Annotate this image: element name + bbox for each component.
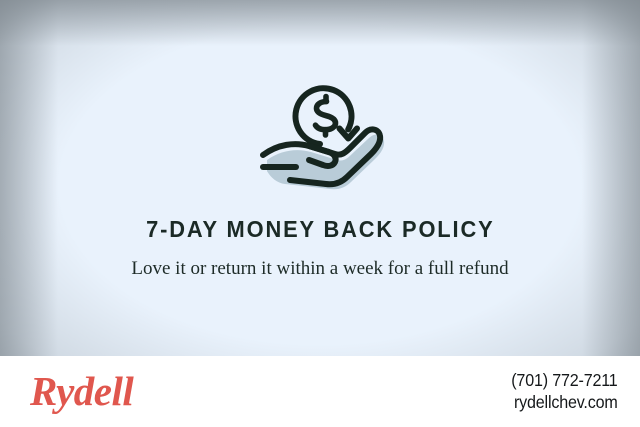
- phone-number[interactable]: (701) 772-7211: [512, 370, 618, 391]
- promo-subheadline: Love it or return it within a week for a…: [120, 256, 520, 281]
- footer-bar: Rydell (701) 772-7211 rydellchev.com: [0, 356, 640, 427]
- rydell-logo[interactable]: Rydell: [30, 371, 133, 412]
- hero-panel: 7-DAY MONEY BACK POLICY Love it or retur…: [0, 0, 640, 356]
- website-url[interactable]: rydellchev.com: [512, 392, 618, 413]
- contact-block: (701) 772-7211 rydellchev.com: [502, 370, 618, 413]
- hero-content: 7-DAY MONEY BACK POLICY Love it or retur…: [0, 0, 640, 356]
- page-title: 7-DAY MONEY BACK POLICY: [146, 218, 494, 242]
- palm-edge: [290, 180, 326, 184]
- hand-holding-money-refund-icon: [245, 72, 395, 200]
- promo-ad-card: 7-DAY MONEY BACK POLICY Love it or retur…: [0, 0, 640, 427]
- refund-icon-svg: [245, 72, 395, 200]
